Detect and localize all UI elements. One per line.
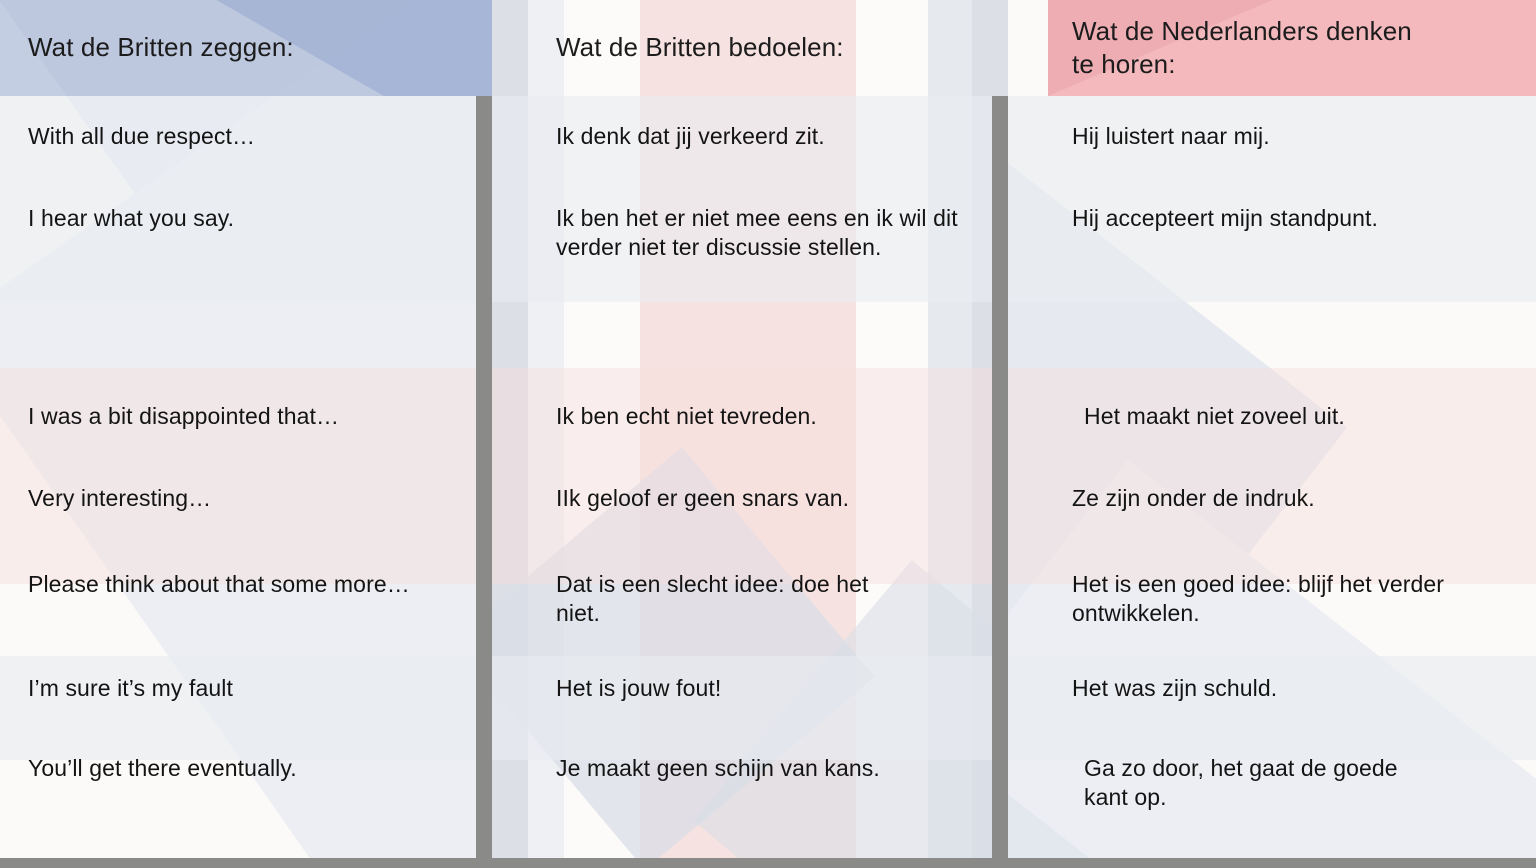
cell-text: Hij luistert naar mij. — [1072, 122, 1270, 151]
cell-dutch-hear-5: Het is een goed idee: blijf het verder o… — [1072, 548, 1514, 652]
cell-british-say-4: Very interesting… — [28, 464, 468, 548]
cell-dutch-hear-4: Ze zijn onder de indruk. — [1072, 464, 1514, 548]
column-dutch-hear: Wat de Nederlanders denken te horen: Hij… — [1008, 0, 1536, 868]
column-british-mean: Wat de Britten bedoelen: Ik denk dat jij… — [492, 0, 1008, 868]
cell-british-mean-1: Ik denk dat jij verkeerd zit. — [556, 96, 990, 182]
cell-text: Ik ben het er niet mee eens en ik wil di… — [556, 204, 966, 262]
cell-text: Please think about that some more… — [28, 570, 472, 599]
slide-canvas: Wat de Britten zeggen: With all due resp… — [0, 0, 1536, 868]
cell-british-mean-4: IIk geloof er geen snars van. — [556, 464, 990, 548]
cell-text: I was a bit disappointed that… — [28, 402, 339, 431]
comparison-table: Wat de Britten zeggen: With all due resp… — [0, 0, 1536, 868]
cell-british-mean-8: We zijn klaar met dit gesprek — [556, 844, 990, 868]
cell-british-say-8: Would you like a cup of tea? — [28, 844, 468, 868]
cell-text: Het is jouw fout! — [556, 674, 721, 703]
cell-text: Dat is een slecht idee: doe het niet. — [556, 570, 916, 628]
column-header-label: Wat de Britten zeggen: — [28, 31, 294, 64]
cell-british-say-2: I hear what you say. — [28, 182, 468, 302]
cell-british-say-3: I was a bit disappointed that… — [28, 302, 468, 464]
cell-british-mean-3: Ik ben echt niet tevreden. — [556, 302, 990, 464]
cell-dutch-hear-2: Hij accepteert mijn standpunt. — [1072, 182, 1514, 302]
cell-text: Je maakt geen schijn van kans. — [556, 754, 880, 783]
cell-text: Ik ben echt niet tevreden. — [556, 402, 817, 431]
cell-dutch-hear-8: Wil je nog een kopje thee? — [1072, 844, 1514, 868]
cell-british-say-5: Please think about that some more… — [28, 548, 472, 652]
cell-text: Hij accepteert mijn standpunt. — [1072, 204, 1378, 233]
cell-text: You’ll get there eventually. — [28, 754, 297, 783]
cell-text: Ik denk dat jij verkeerd zit. — [556, 122, 825, 151]
cell-text: With all due respect… — [28, 122, 255, 151]
cell-british-say-7: You’ll get there eventually. — [28, 734, 468, 844]
cell-text: IIk geloof er geen snars van. — [556, 484, 849, 513]
cell-dutch-hear-7: Ga zo door, het gaat de goede kant op. — [1072, 734, 1514, 844]
column-header-british-say: Wat de Britten zeggen: — [28, 0, 468, 96]
cell-text: Het maakt niet zoveel uit. — [1084, 402, 1345, 431]
cell-text: Het is een goed idee: blijf het verder o… — [1072, 570, 1492, 628]
cell-british-mean-7: Je maakt geen schijn van kans. — [556, 734, 990, 844]
column-header-british-mean: Wat de Britten bedoelen: — [556, 0, 990, 96]
cell-dutch-hear-1: Hij luistert naar mij. — [1072, 96, 1514, 182]
cell-text: Het was zijn schuld. — [1072, 674, 1277, 703]
cell-dutch-hear-3: Het maakt niet zoveel uit. — [1072, 302, 1514, 464]
cell-british-mean-6: Het is jouw fout! — [556, 652, 990, 734]
cell-dutch-hear-6: Het was zijn schuld. — [1072, 652, 1514, 734]
cell-british-say-1: With all due respect… — [28, 96, 468, 182]
cell-text: I’m sure it’s my fault — [28, 674, 233, 703]
cell-text: Ze zijn onder de indruk. — [1072, 484, 1315, 513]
column-header-dutch-hear: Wat de Nederlanders denken te horen: — [1072, 0, 1514, 96]
column-british-say: Wat de Britten zeggen: With all due resp… — [0, 0, 492, 868]
cell-text: Ga zo door, het gaat de goede kant op. — [1084, 754, 1424, 812]
cell-text: I hear what you say. — [28, 204, 234, 233]
cell-british-mean-5: Dat is een slecht idee: doe het niet. — [556, 548, 990, 652]
cell-british-say-6: I’m sure it’s my fault — [28, 652, 468, 734]
cell-british-mean-2: Ik ben het er niet mee eens en ik wil di… — [556, 182, 990, 302]
column-header-label: Wat de Nederlanders denken te horen: — [1072, 15, 1422, 82]
column-header-label: Wat de Britten bedoelen: — [556, 31, 844, 64]
cell-text: Very interesting… — [28, 484, 211, 513]
